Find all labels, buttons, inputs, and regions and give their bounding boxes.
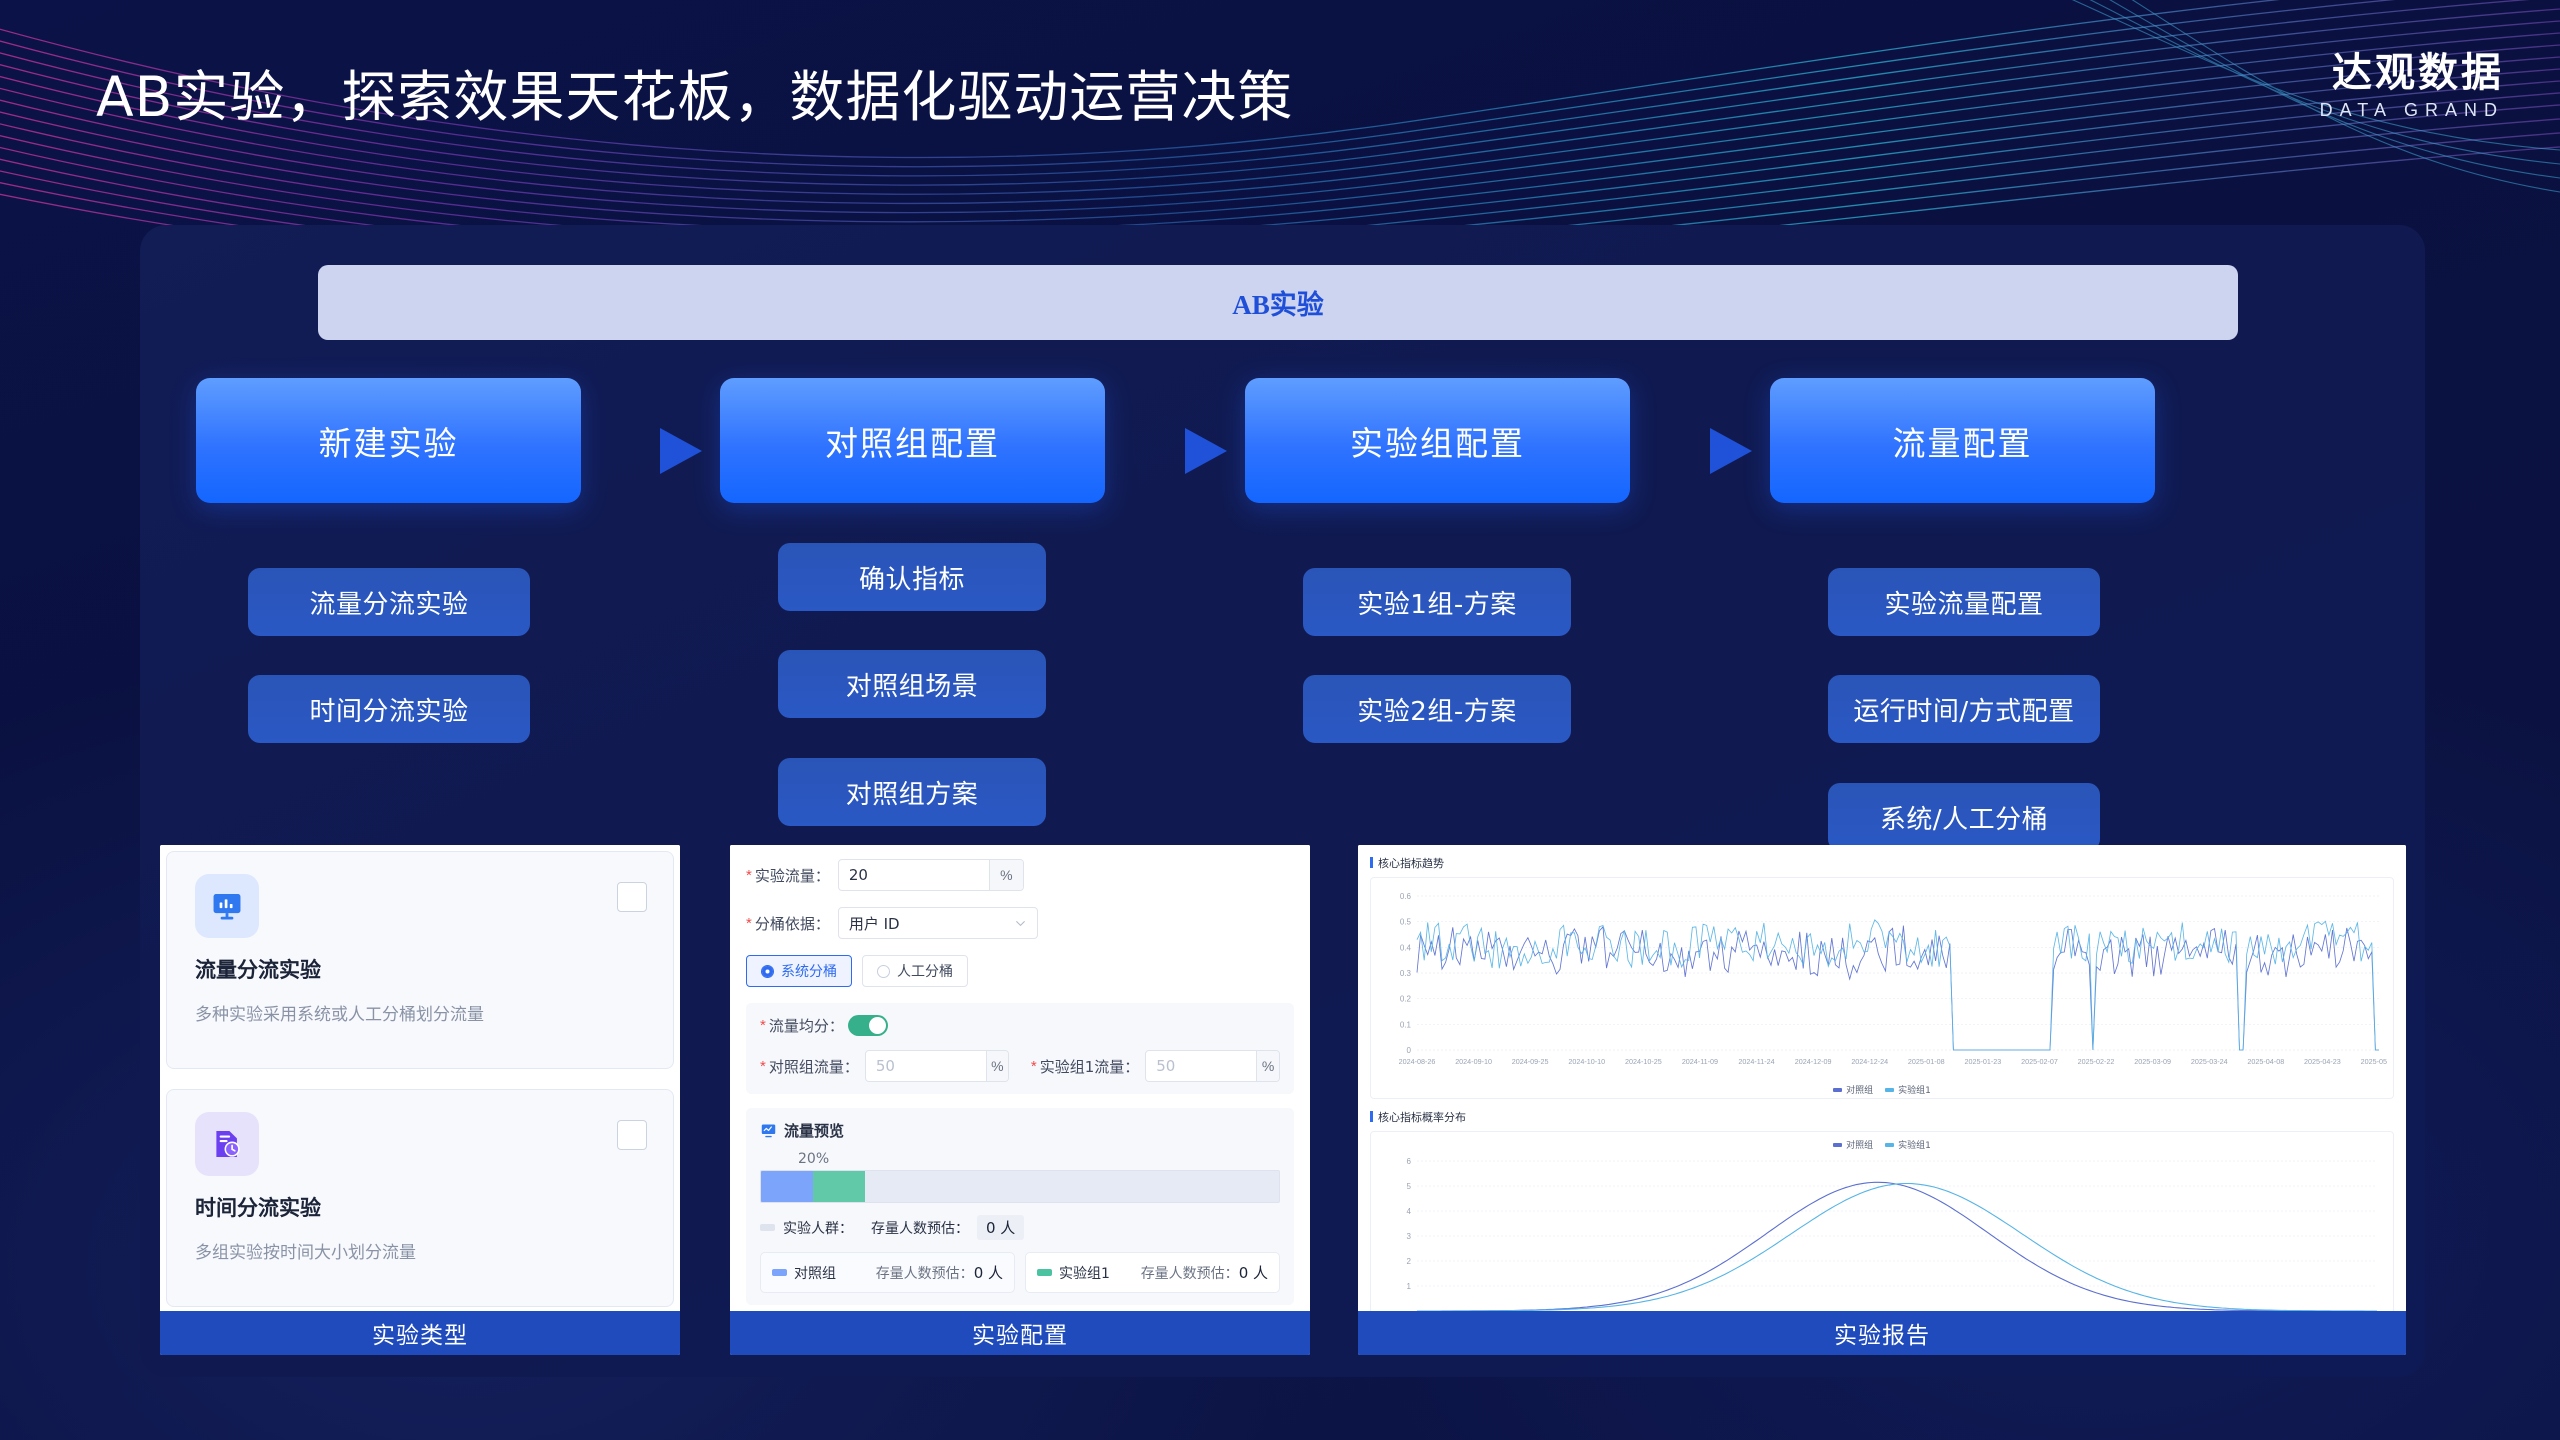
even-split-label: 流量均分： (769, 1015, 844, 1036)
form-row-traffic: * 实验流量： 20 % (746, 859, 1294, 891)
chip-system-manual-bucketing[interactable]: 系统/人工分桶 (1828, 783, 2100, 851)
form-row-bucket-basis: * 分桶依据： 用户 ID (746, 907, 1294, 939)
flow-diagram: 新建实验 对照组配置 实验组配置 流量配置 (140, 378, 2425, 503)
legend-swatch-icon (1833, 1088, 1842, 1092)
experiment-type-title: 流量分流实验 (195, 954, 321, 984)
radio-dot-icon (877, 965, 890, 978)
traffic-preview-bar (760, 1170, 1280, 1203)
brand-logo: 达观数据 DATA GRAND (2320, 52, 2504, 121)
bucket-basis-value: 用户 ID (849, 913, 900, 934)
experiment-type-card-traffic[interactable]: 流量分流实验 多种实验采用系统或人工分桶划分流量 (166, 851, 674, 1069)
traffic-label: 实验流量： (755, 865, 830, 886)
chip-label: 时间分流实验 (309, 691, 468, 728)
even-split-toggle[interactable] (848, 1015, 888, 1036)
audience-estimate-label: 存量人数预估： (871, 1218, 969, 1238)
control-traffic-value: 50 (866, 1051, 986, 1081)
form-row-even-split: * 流量均分： (760, 1015, 1280, 1036)
radio-dot-icon (761, 965, 774, 978)
page-title: AB实验，探索效果天花板，数据化驱动运营决策 (96, 52, 1293, 132)
exp-traffic-value: 50 (1146, 1051, 1256, 1081)
legend-label: 对照组 (1846, 1083, 1873, 1096)
experiment-type-title: 时间分流实验 (195, 1192, 321, 1222)
flow-node-traffic-config[interactable]: 流量配置 (1770, 378, 2155, 503)
percent-suffix: % (989, 860, 1023, 890)
svg-text:0.5: 0.5 (1400, 918, 1412, 927)
svg-text:0: 0 (1407, 1046, 1412, 1055)
legend-label: 实验组1 (1898, 1083, 1931, 1096)
screenshot-experiment-report: 核心指标趋势 00.10.20.30.40.50.62024-08-262024… (1358, 845, 2406, 1355)
control-estimate: 存量人数预估：0 人 (876, 1262, 1003, 1283)
svg-text:4: 4 (1407, 1207, 1412, 1216)
group-label-wrap: 对照组 (772, 1263, 836, 1283)
chip-label: 运行时间/方式配置 (1853, 691, 2074, 728)
chip-label: 对照组场景 (846, 666, 979, 703)
chart-legend-trend: 对照组 实验组1 (1375, 1083, 2389, 1096)
chip-label: 系统/人工分桶 (1880, 799, 2048, 836)
chip-label: 实验流量配置 (1884, 584, 2043, 621)
chip-label: 流量分流实验 (309, 584, 468, 621)
footer-label-experiment-config: 实验配置 (730, 1311, 1310, 1355)
legend-label: 实验组1 (1898, 1138, 1931, 1151)
bar-segment-experiment (813, 1171, 865, 1202)
ab-experiment-header-bar: AB实验 (318, 265, 2238, 340)
svg-text:2024-12-09: 2024-12-09 (1795, 1057, 1832, 1066)
svg-text:2024-09-25: 2024-09-25 (1512, 1057, 1549, 1066)
legend-item-control[interactable]: 对照组 (1833, 1083, 1873, 1096)
experiment-estimate-label: 存量人数预估： (1141, 1266, 1239, 1282)
svg-text:0.4: 0.4 (1400, 943, 1412, 952)
control-group-name: 对照组 (794, 1263, 836, 1283)
svg-text:2025-04-08: 2025-04-08 (2247, 1057, 2284, 1066)
bar-segment-control (761, 1171, 813, 1202)
required-marker: * (746, 915, 752, 932)
svg-text:0.1: 0.1 (1400, 1020, 1412, 1029)
experiment-config-body: * 实验流量： 20 % * 分桶依据： 用户 ID (730, 845, 1310, 1311)
experiment-estimate-value: 0 人 (1239, 1264, 1268, 1282)
footer-label-experiment-report: 实验报告 (1358, 1311, 2406, 1355)
chip-runtime-mode-config[interactable]: 运行时间/方式配置 (1828, 675, 2100, 743)
page-header: AB实验，探索效果天花板，数据化驱动运营决策 达观数据 DATA GRAND (0, 0, 2560, 185)
chip-experiment-traffic-config[interactable]: 实验流量配置 (1828, 568, 2100, 636)
bucket-label: 分桶依据： (755, 913, 830, 934)
chip-label: 确认指标 (859, 559, 965, 596)
screenshot-experiment-config: * 实验流量： 20 % * 分桶依据： 用户 ID (730, 845, 1310, 1355)
radio-label: 系统分桶 (781, 961, 837, 981)
audience-row: 实验人群： 存量人数预估： 0 人 (760, 1215, 1280, 1240)
svg-text:2025-02-22: 2025-02-22 (2078, 1057, 2115, 1066)
chip-label: 实验1组-方案 (1357, 584, 1516, 621)
config-form: * 实验流量： 20 % * 分桶依据： 用户 ID (730, 845, 1310, 1311)
chip-time-split-experiment[interactable]: 时间分流实验 (248, 675, 530, 743)
group-estimate-card-experiment: 实验组1 存量人数预估：0 人 (1025, 1252, 1280, 1293)
required-marker: * (1031, 1058, 1037, 1075)
traffic-preview-header: 流量预览 (760, 1120, 1280, 1141)
svg-text:0.2: 0.2 (1400, 995, 1412, 1004)
content-panel: AB实验 新建实验 对照组配置 实验组配置 流量配置 流量分流实验 时间分流实验… (140, 225, 2425, 1377)
traffic-preview-box: 流量预览 20% 实验人群： 存量人数预估： 0 人 (746, 1108, 1294, 1305)
required-marker: * (760, 1058, 766, 1075)
control-estimate-label: 存量人数预估： (876, 1266, 974, 1282)
audience-estimate-value: 0 人 (977, 1215, 1024, 1240)
svg-text:0.3: 0.3 (1400, 969, 1412, 978)
triangle-right-icon (1710, 428, 1752, 474)
flow-node-label: 对照组配置 (825, 417, 1000, 465)
experiment-type-desc: 多种实验采用系统或人工分桶划分流量 (195, 1000, 484, 1025)
traffic-distribution-box: * 流量均分： * 对照组流量： 50 % * 实验组1流量： (746, 1003, 1294, 1094)
svg-text:3: 3 (1407, 1232, 1412, 1241)
audience-label: 实验人群： (783, 1218, 853, 1238)
flow-node-label: 新建实验 (319, 417, 459, 465)
flow-node-label: 流量配置 (1893, 417, 2033, 465)
flow-node-control-group-config[interactable]: 对照组配置 (720, 378, 1105, 503)
svg-text:2025-03-24: 2025-03-24 (2191, 1057, 2228, 1066)
group-label-wrap: 实验组1 (1037, 1263, 1110, 1283)
control-swatch-icon (772, 1269, 787, 1276)
svg-text:2025-04-23: 2025-04-23 (2304, 1057, 2341, 1066)
chart-title-trend: 核心指标趋势 (1370, 855, 2394, 871)
screenshot-experiment-type: 流量分流实验 多种实验采用系统或人工分桶划分流量 时间分流实验 多组实验按时间大… (160, 845, 680, 1355)
control-traffic-input[interactable]: 50 % (865, 1050, 1009, 1082)
bucket-mode-radio-group: 系统分桶 人工分桶 (746, 955, 968, 987)
distribution-line-chart: 123456 (1375, 1153, 2387, 1311)
chart-legend-distribution: 对照组 实验组1 (1375, 1138, 2389, 1151)
legend-item-control[interactable]: 对照组 (1833, 1138, 1873, 1151)
chip-confirm-metric[interactable]: 确认指标 (778, 543, 1046, 611)
flow-node-label: 实验组配置 (1350, 417, 1525, 465)
svg-text:2025-01-08: 2025-01-08 (1908, 1057, 1945, 1066)
report-content: 核心指标趋势 00.10.20.30.40.50.62024-08-262024… (1358, 845, 2406, 1311)
experiment-report-body: 核心指标趋势 00.10.20.30.40.50.62024-08-262024… (1358, 845, 2406, 1311)
chevron-down-icon (1014, 917, 1027, 930)
flow-node-new-experiment[interactable]: 新建实验 (196, 378, 581, 503)
svg-text:1: 1 (1407, 1282, 1412, 1291)
svg-text:2025-03-09: 2025-03-09 (2134, 1057, 2171, 1066)
traffic-input[interactable]: 20 % (838, 859, 1024, 891)
svg-text:2025-02-07: 2025-02-07 (2021, 1057, 2058, 1066)
required-marker: * (746, 867, 752, 884)
audience-swatch-icon (760, 1224, 775, 1231)
form-row-group-traffic: * 对照组流量： 50 % * 实验组1流量： 50 % (760, 1050, 1280, 1082)
svg-text:2024-10-10: 2024-10-10 (1568, 1057, 1605, 1066)
radio-system-bucketing[interactable]: 系统分桶 (746, 955, 852, 987)
footer-label-experiment-type: 实验类型 (160, 1311, 680, 1355)
experiment-type-body: 流量分流实验 多种实验采用系统或人工分桶划分流量 时间分流实验 多组实验按时间大… (160, 845, 680, 1311)
triangle-right-icon (660, 428, 702, 474)
logo-text-cn: 达观数据 (2320, 52, 2504, 94)
legend-label: 对照组 (1846, 1138, 1873, 1151)
exp-traffic-input[interactable]: 50 % (1145, 1050, 1280, 1082)
chip-experiment-group-2-plan[interactable]: 实验2组-方案 (1303, 675, 1571, 743)
experiment-group-name: 实验组1 (1059, 1263, 1110, 1283)
legend-swatch-icon (1833, 1143, 1842, 1147)
svg-text:2025-01-23: 2025-01-23 (1964, 1057, 2001, 1066)
chip-traffic-split-experiment[interactable]: 流量分流实验 (248, 568, 530, 636)
chip-label: 实验2组-方案 (1357, 691, 1516, 728)
svg-text:6: 6 (1407, 1157, 1412, 1166)
legend-swatch-icon (1885, 1088, 1894, 1092)
form-row-bucket-mode: 系统分桶 人工分桶 (746, 955, 1294, 987)
ab-experiment-header-label: AB实验 (1232, 283, 1324, 322)
legend-swatch-icon (1885, 1143, 1894, 1147)
traffic-preview-percent: 20% (798, 1151, 1280, 1167)
document-clock-icon (195, 1112, 259, 1176)
experiment-type-card-time[interactable]: 时间分流实验 多组实验按时间大小划分流量 (166, 1089, 674, 1307)
percent-suffix: % (986, 1051, 1008, 1081)
trend-line-chart: 00.10.20.30.40.50.62024-08-262024-09-102… (1375, 884, 2387, 1080)
svg-text:2024-12-24: 2024-12-24 (1851, 1057, 1888, 1066)
svg-text:2024-11-24: 2024-11-24 (1738, 1057, 1774, 1066)
traffic-input-value: 20 (839, 860, 989, 890)
control-traffic-label: 对照组流量： (769, 1056, 859, 1077)
experiment-estimate: 存量人数预估：0 人 (1141, 1262, 1268, 1283)
svg-text:5: 5 (1407, 1182, 1412, 1191)
svg-text:2024-09-10: 2024-09-10 (1455, 1057, 1492, 1066)
svg-text:2024-11-09: 2024-11-09 (1682, 1057, 1718, 1066)
chart-card-trend: 00.10.20.30.40.50.62024-08-262024-09-102… (1370, 877, 2394, 1099)
chart-title-distribution: 核心指标概率分布 (1370, 1109, 2394, 1125)
traffic-preview-title: 流量预览 (784, 1120, 844, 1141)
bucket-basis-select[interactable]: 用户 ID (838, 907, 1038, 939)
radio-label: 人工分桶 (897, 961, 953, 981)
experiment-swatch-icon (1037, 1269, 1052, 1276)
svg-text:2025-05-08: 2025-05-08 (2361, 1057, 2387, 1066)
radio-manual-bucketing[interactable]: 人工分桶 (862, 955, 968, 987)
exp-traffic-label: 实验组1流量： (1040, 1056, 1140, 1077)
svg-text:0.6: 0.6 (1400, 892, 1412, 901)
monitor-chart-icon (195, 874, 259, 938)
svg-text:2024-08-26: 2024-08-26 (1399, 1057, 1436, 1066)
chip-experiment-group-1-plan[interactable]: 实验1组-方案 (1303, 568, 1571, 636)
triangle-right-icon (1185, 428, 1227, 474)
logo-text-en: DATA GRAND (2320, 100, 2504, 121)
group-estimate-card-control: 对照组 存量人数预估：0 人 (760, 1252, 1015, 1293)
legend-item-experiment[interactable]: 实验组1 (1885, 1083, 1931, 1096)
chart-card-distribution: 对照组 实验组1 123456 (1370, 1131, 2394, 1311)
experiment-type-desc: 多组实验按时间大小划分流量 (195, 1238, 416, 1263)
svg-text:2024-10-25: 2024-10-25 (1625, 1057, 1662, 1066)
group-estimate-cards: 对照组 存量人数预估：0 人 实验组1 (760, 1252, 1280, 1293)
checkbox-unchecked[interactable] (617, 1120, 647, 1150)
chip-control-group-plan[interactable]: 对照组方案 (778, 758, 1046, 826)
control-estimate-value: 0 人 (974, 1264, 1003, 1282)
svg-text:2: 2 (1407, 1257, 1412, 1266)
flow-node-experiment-group-config[interactable]: 实验组配置 (1245, 378, 1630, 503)
checkbox-unchecked[interactable] (617, 882, 647, 912)
legend-item-experiment[interactable]: 实验组1 (1885, 1138, 1931, 1151)
required-marker: * (760, 1017, 766, 1034)
monitor-chart-icon (760, 1122, 777, 1139)
chip-label: 对照组方案 (846, 774, 979, 811)
chip-control-group-scenario[interactable]: 对照组场景 (778, 650, 1046, 718)
percent-suffix: % (1256, 1051, 1279, 1081)
